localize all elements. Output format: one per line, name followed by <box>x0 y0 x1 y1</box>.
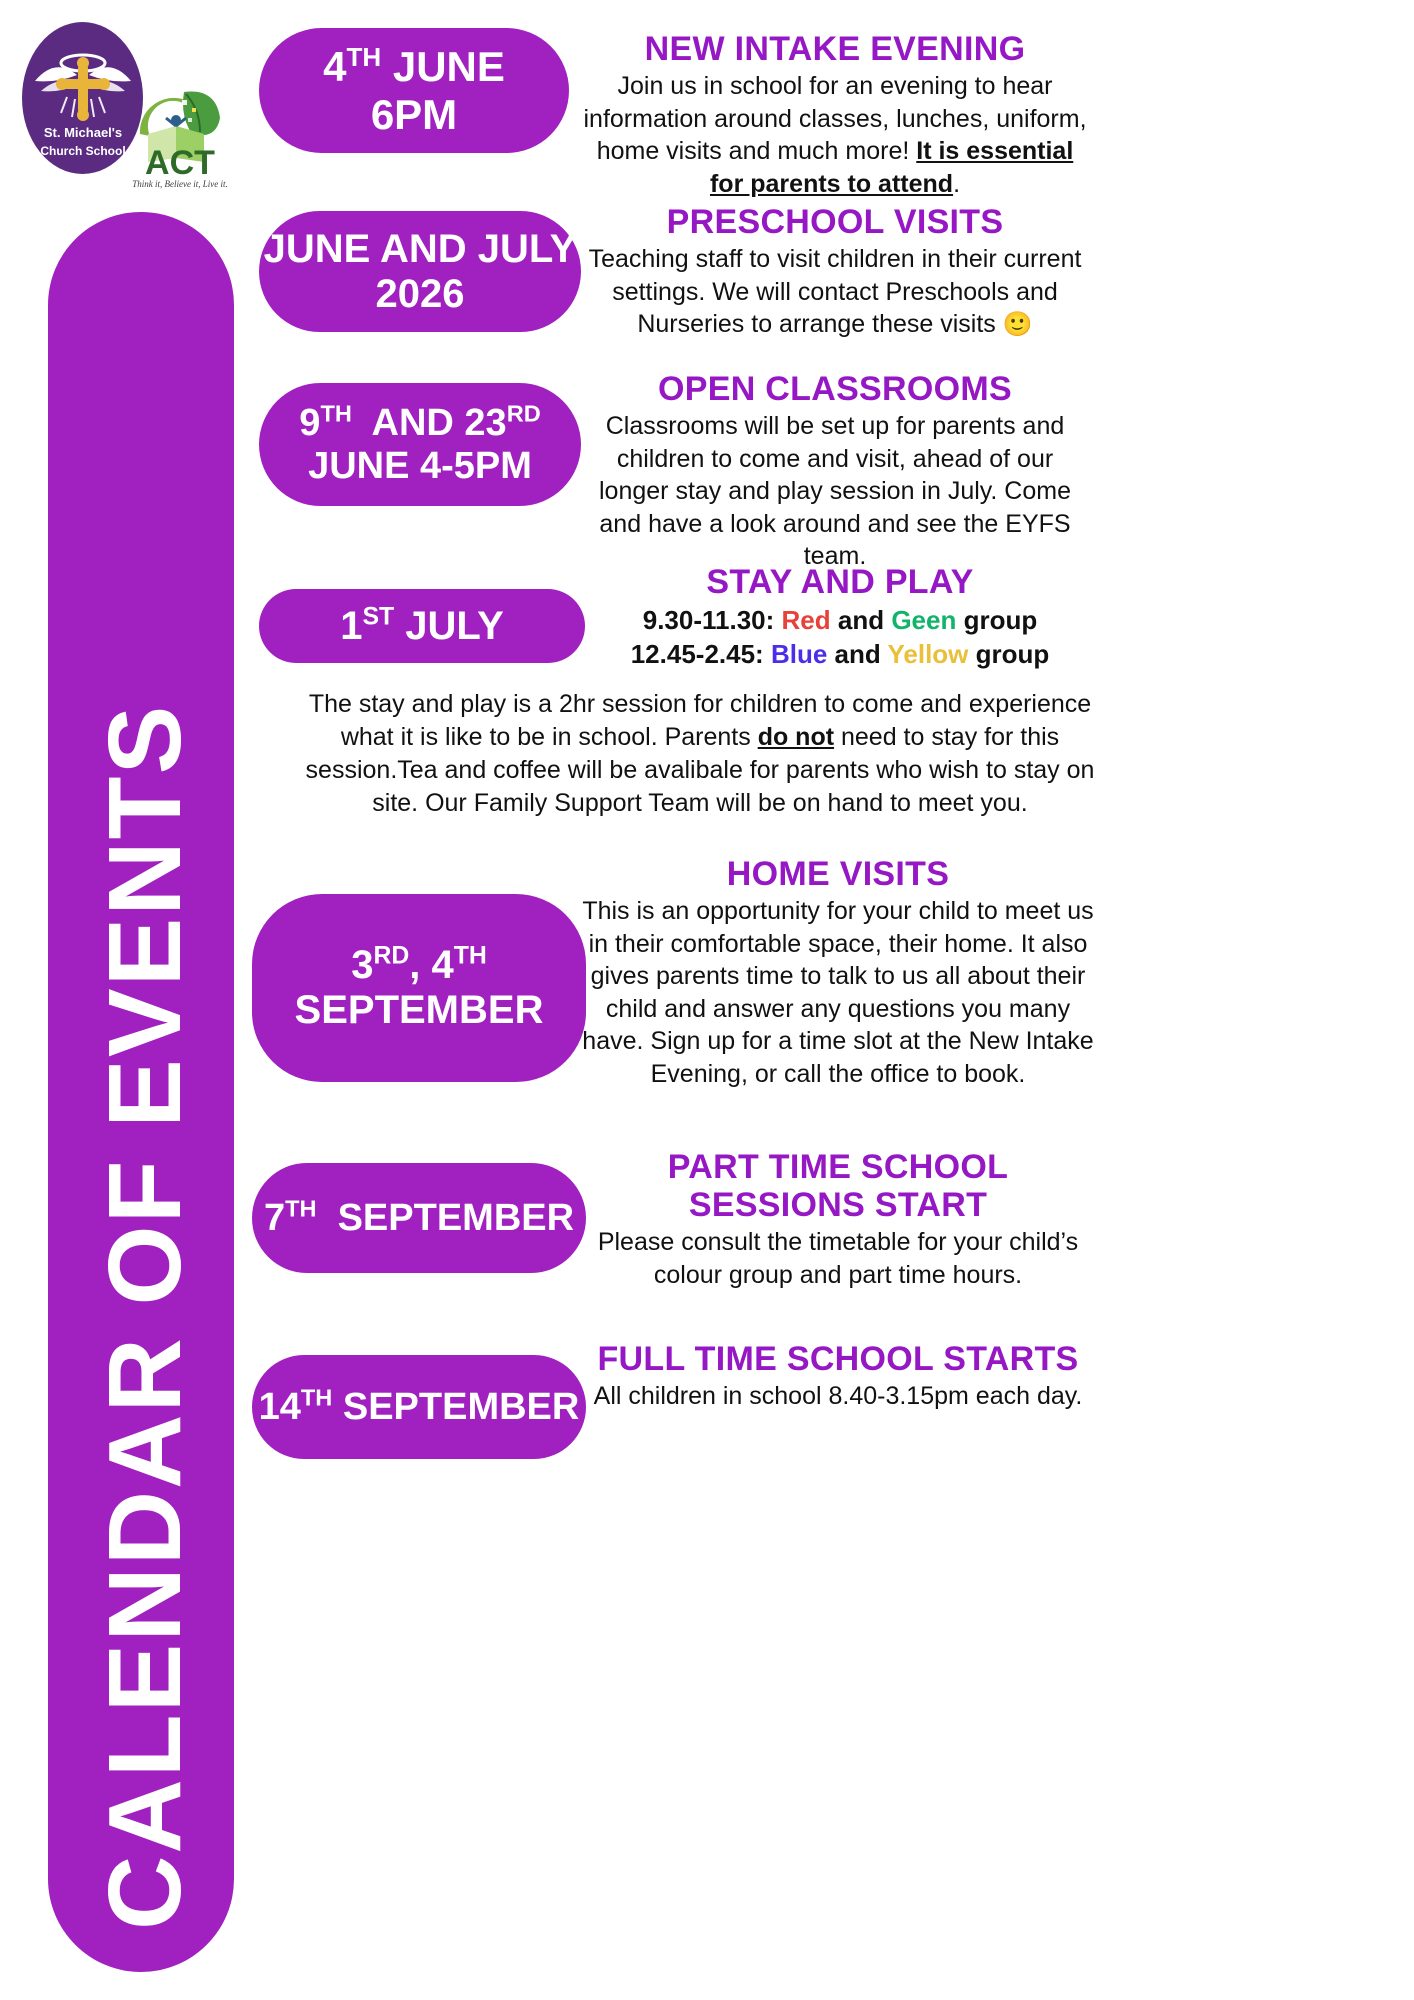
spine-title: CALENDAR OF EVENTS <box>86 704 204 1930</box>
stay-and-play-description: The stay and play is a 2hr session for c… <box>300 688 1100 820</box>
group-colour-yellow: Yellow <box>887 639 968 669</box>
pill-line-2: JUNE 4-5PM <box>308 445 532 488</box>
act-trust-logo: ACT Think it, Believe it, Live it. <box>126 82 234 192</box>
event-title-open-classrooms: OPEN CLASSROOMS <box>580 370 1090 408</box>
pill-line-1: 4TH JUNE <box>323 43 505 90</box>
group-colour-green: Geen <box>891 605 956 635</box>
calendar-of-events-spine: CALENDAR OF EVENTS <box>48 212 234 1972</box>
event-title-stay-and-play: STAY AND PLAY <box>590 563 1090 601</box>
event-block-open-classrooms: OPEN CLASSROOMS Classrooms will be set u… <box>580 370 1090 573</box>
pill-line-1: 9TH AND 23RD <box>299 402 540 445</box>
group-colour-red: Red <box>782 605 831 635</box>
event-block-part-time-sessions: PART TIME SCHOOL SESSIONS START Please c… <box>580 1148 1096 1291</box>
date-pill-stay-and-play: 1ST JULY <box>259 589 585 663</box>
event-body-preschool-visits: Teaching staff to visit children in thei… <box>580 243 1090 341</box>
event-block-stay-and-play: STAY AND PLAY 9.30-11.30: Red and Geen g… <box>590 563 1090 672</box>
stay-and-play-group-times: 9.30-11.30: Red and Geen group 12.45-2.4… <box>590 603 1090 672</box>
event-title-new-intake-evening: NEW INTAKE EVENING <box>580 30 1090 68</box>
pill-line-2: 6PM <box>371 91 457 138</box>
date-pill-open-classrooms: 9TH AND 23RD JUNE 4-5PM <box>259 383 581 506</box>
event-title-preschool-visits: PRESCHOOL VISITS <box>580 203 1090 241</box>
date-pill-new-intake-evening: 4TH JUNE 6PM <box>259 28 569 153</box>
group-suffix: group <box>956 605 1037 635</box>
slightly-smiling-face-emoji: 🙂 <box>1003 311 1033 338</box>
date-pill-full-time-start: 14TH SEPTEMBER <box>252 1355 586 1459</box>
group-colour-blue: Blue <box>771 639 827 669</box>
group-time-row-afternoon: 12.45-2.45: Blue and Yellow group <box>590 637 1090 671</box>
date-pill-preschool-visits: JUNE AND JULY 2026 <box>259 211 581 332</box>
pill-line-1: 3RD, 4TH <box>351 943 487 988</box>
pill-line-1: 7TH SEPTEMBER <box>264 1197 574 1240</box>
group-time-row-morning: 9.30-11.30: Red and Geen group <box>590 603 1090 637</box>
group-time: 12.45-2.45: <box>631 639 771 669</box>
date-pill-part-time-sessions: 7TH SEPTEMBER <box>252 1163 586 1273</box>
event-body-new-intake-evening: Join us in school for an evening to hear… <box>580 70 1090 200</box>
act-logo-word: ACT <box>145 144 215 182</box>
group-conjunction: and <box>827 639 887 669</box>
pill-line-1: JUNE AND JULY <box>264 227 577 272</box>
pill-line-2: SEPTEMBER <box>295 988 544 1033</box>
pill-line-1: 1ST JULY <box>340 604 504 649</box>
event-block-new-intake-evening: NEW INTAKE EVENING Join us in school for… <box>580 30 1090 200</box>
group-suffix: group <box>968 639 1049 669</box>
event-body-tail: . <box>953 170 960 198</box>
event-title-part-time-sessions: PART TIME SCHOOL SESSIONS START <box>580 1148 1096 1224</box>
event-block-preschool-visits: PRESCHOOL VISITS Teaching staff to visit… <box>580 203 1090 341</box>
group-time: 9.30-11.30: <box>643 605 782 635</box>
event-body-part-time-sessions: Please consult the timetable for your ch… <box>580 1226 1096 1291</box>
stay-and-play-desc-emphasis: do not <box>758 723 834 751</box>
pill-line-1: 14TH SEPTEMBER <box>259 1386 580 1429</box>
pill-line-2: 2026 <box>376 272 465 317</box>
date-pill-home-visits: 3RD, 4TH SEPTEMBER <box>252 894 586 1082</box>
event-block-full-time-start: FULL TIME SCHOOL STARTS All children in … <box>580 1340 1096 1413</box>
st-michaels-church-school-logo: St. Michael's Church School <box>22 22 143 174</box>
school-logo-line2: Church School <box>40 144 125 158</box>
event-body-full-time-start: All children in school 8.40-3.15pm each … <box>580 1380 1096 1413</box>
event-block-home-visits: HOME VISITS This is an opportunity for y… <box>580 855 1096 1090</box>
event-body-open-classrooms: Classrooms will be set up for parents an… <box>580 410 1090 573</box>
group-conjunction: and <box>831 605 892 635</box>
event-body-home-visits: This is an opportunity for your child to… <box>580 895 1096 1090</box>
calendar-of-events-poster: St. Michael's Church School ACT Think it… <box>0 0 1414 2000</box>
event-title-home-visits: HOME VISITS <box>580 855 1096 893</box>
act-logo-tagline: Think it, Believe it, Live it. <box>132 179 227 189</box>
event-title-full-time-start: FULL TIME SCHOOL STARTS <box>580 1340 1096 1378</box>
school-logo-line1: St. Michael's <box>43 125 121 140</box>
